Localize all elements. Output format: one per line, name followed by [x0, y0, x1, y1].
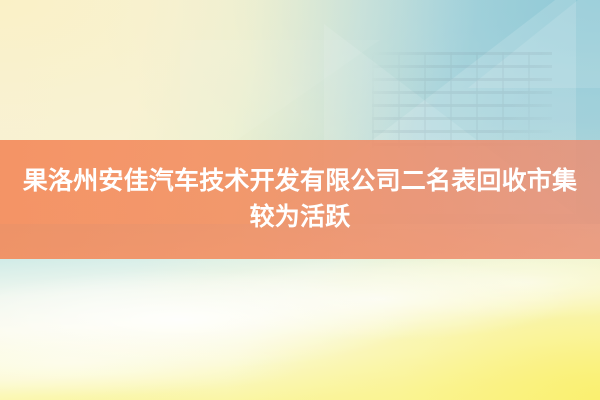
banner-title-line-2: 较为活跃: [250, 200, 351, 236]
table-watermark: [372, 52, 552, 148]
banner-title-line-1: 果洛州安佳汽车技术开发有限公司二名表回收市集: [13, 164, 587, 200]
promo-banner: 果洛州安佳汽车技术开发有限公司二名表回收市集 较为活跃: [0, 0, 600, 400]
title-band: 果洛州安佳汽车技术开发有限公司二名表回收市集 较为活跃: [0, 140, 600, 259]
